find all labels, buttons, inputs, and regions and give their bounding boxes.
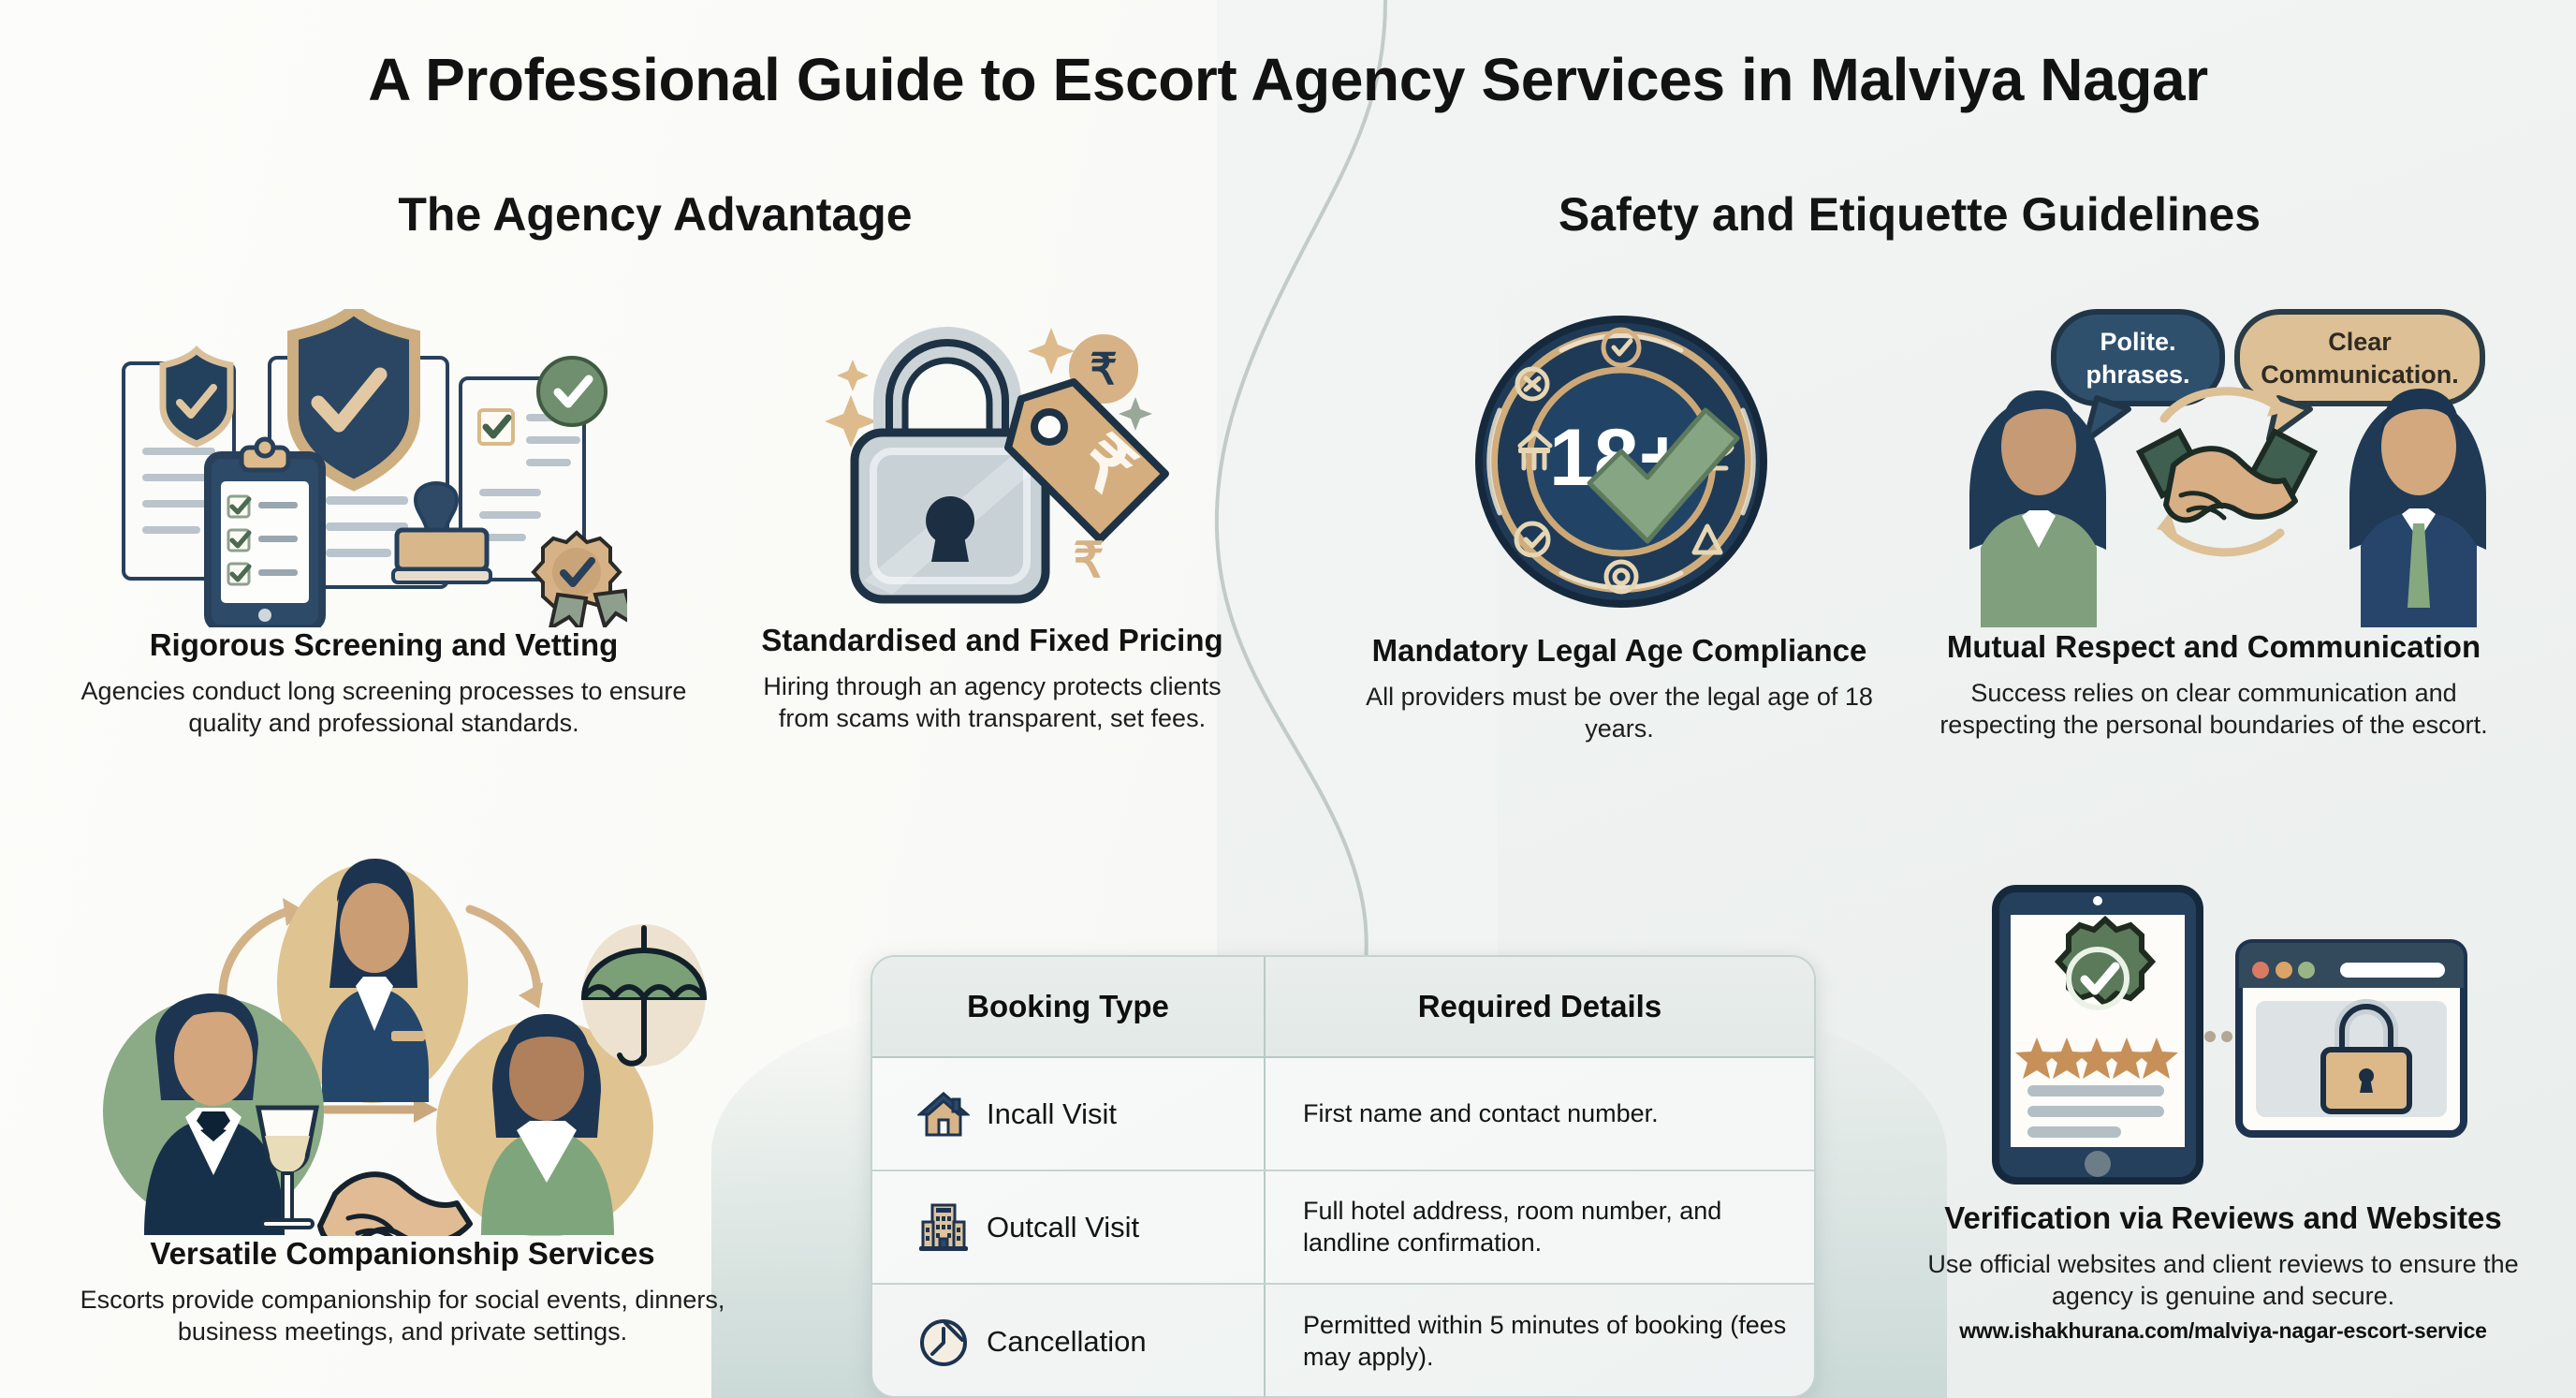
legal-age-badge-illustration: 18+ [1460,309,1797,618]
card-body: Use official websites and client reviews… [1900,1248,2546,1313]
card-verification: Verification via Reviews and Websites Us… [1900,1200,2546,1344]
table-header-required-details: Required Details [1266,957,1814,1056]
booking-type-cell: Incall Visit [872,1058,1266,1170]
section-heading-safety-etiquette: Safety and Etiquette Guidelines [1348,187,2471,242]
table-header-booking-type: Booking Type [872,957,1266,1056]
card-body: All providers must be over the legal age… [1357,681,1881,745]
card-title: Mandatory Legal Age Compliance [1357,633,1881,669]
office-icon [917,1201,970,1254]
card-body: Success relies on clear communication an… [1914,677,2513,742]
booking-type-label: Incall Visit [987,1097,1117,1131]
card-body: Escorts provide companionship for social… [37,1284,768,1348]
svg-text:Communication.: Communication. [2261,361,2459,389]
svg-text:Clear: Clear [2328,328,2392,356]
website-url[interactable]: www.ishakhurana.com/malviya-nagar-escort… [1900,1318,2546,1344]
fixed-pricing-illustration: ₹ ₹ ₹ [791,309,1184,618]
table-row: Incall Visit First name and contact numb… [872,1058,1814,1171]
person-left-figure [1969,390,2106,627]
svg-text:Polite.: Polite. [2100,328,2175,356]
booking-requirements-table: Booking Type Required Details Incall Vis… [871,955,1816,1398]
card-title: Standardised and Fixed Pricing [749,623,1236,658]
section-heading-agency-advantage: The Agency Advantage [112,187,1198,242]
svg-text:₹: ₹ [1090,345,1117,393]
required-details-label: First name and contact number. [1266,1098,1676,1130]
required-details-label: Permitted within 5 minutes of booking (f… [1266,1310,1814,1374]
column-header-label: Required Details [1418,989,1661,1024]
card-versatile-companionship: Versatile Companionship Services Escorts… [37,1236,768,1348]
svg-text:phrases.: phrases. [2086,361,2189,389]
companionship-illustration [75,857,721,1236]
verification-illustration [1966,885,2509,1189]
table-row: Outcall Visit Full hotel address, room n… [872,1171,1814,1285]
mutual-respect-illustration: Polite. phrases. Clear Communication. [1956,304,2499,627]
required-details-cell: Full hotel address, room number, and lan… [1266,1171,1814,1283]
card-body: Agencies conduct long screening processe… [47,675,721,740]
required-details-label: Full hotel address, room number, and lan… [1266,1196,1814,1259]
screening-vetting-illustration [103,309,627,627]
booking-type-cell: Cancellation [872,1285,1266,1398]
svg-text:₹: ₹ [1073,534,1104,588]
card-mutual-respect: Mutual Respect and Communication Success… [1914,629,2513,742]
clock-icon [917,1316,970,1368]
card-title: Mutual Respect and Communication [1914,629,2513,665]
card-body: Hiring through an agency protects client… [749,670,1236,735]
booking-type-cell: Outcall Visit [872,1171,1266,1283]
table-header-row: Booking Type Required Details [872,957,1814,1058]
column-header-label: Booking Type [967,989,1169,1024]
required-details-cell: Permitted within 5 minutes of booking (f… [1266,1285,1814,1398]
booking-type-label: Cancellation [987,1325,1147,1359]
booking-type-label: Outcall Visit [987,1211,1139,1244]
card-title: Versatile Companionship Services [37,1236,768,1272]
table-row: Cancellation Permitted within 5 minutes … [872,1285,1814,1398]
required-details-cell: First name and contact number. [1266,1058,1814,1170]
house-icon [917,1088,970,1140]
card-title: Verification via Reviews and Websites [1900,1200,2546,1236]
infographic-poster: A Professional Guide to Escort Agency Se… [0,0,2576,1398]
card-legal-age: Mandatory Legal Age Compliance All provi… [1357,633,1881,745]
card-fixed-pricing: Standardised and Fixed Pricing Hiring th… [749,623,1236,735]
card-title: Rigorous Screening and Vetting [47,627,721,663]
card-rigorous-screening: Rigorous Screening and Vetting Agencies … [47,627,721,740]
person-right-figure [2349,389,2486,627]
page-title: A Professional Guide to Escort Agency Se… [0,45,2576,114]
